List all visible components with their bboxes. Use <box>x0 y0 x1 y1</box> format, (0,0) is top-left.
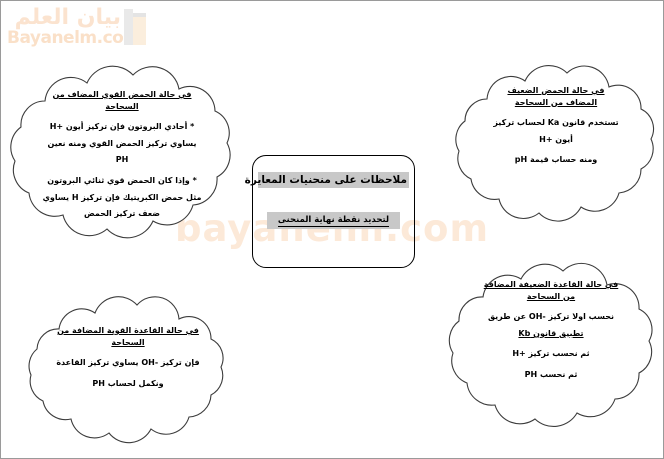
heading-line-2: المضاف من السحاحة <box>515 98 597 107</box>
cloud-weak-base-line-4: ثم نحسب PH <box>469 369 633 381</box>
heading-line-1: في حالة الحمض الضعيف <box>507 86 604 95</box>
heading-line-2: من السحاحة <box>527 292 575 301</box>
cloud-strong-base-heading: في حالة القاعدة القوية المضافة من السحاح… <box>47 325 209 348</box>
cloud-weak-acid-line-1: تستخدم قانون Ka لحساب تركيز <box>477 117 635 129</box>
watermark-logo-latin: Bayanelm.com <box>7 28 141 48</box>
cloud-strong-base-line-1: فإن تركيز -OH يساوي تركيز القاعدة <box>47 357 209 369</box>
cloud-strong-acid-line-4: * وإذا كان الحمض قوي ثنائي البروتون <box>41 175 203 187</box>
cloud-strong-base: في حالة القاعدة القوية المضافة من السحاح… <box>21 293 235 445</box>
cloud-strong-acid-line-5: مثل حمض الكبريتيك فإن تركيز H يساوي <box>41 192 203 204</box>
cloud-weak-base-text: في حالة القاعدة الضعيفة المضافة من السحا… <box>469 279 633 386</box>
cloud-weak-acid: في حالة الحمض الضعيف المضاف من السحاحة ت… <box>449 59 663 227</box>
cloud-weak-acid-heading: في حالة الحمض الضعيف المضاف من السحاحة <box>477 85 635 108</box>
watermark-logo-arabic: بيان العلم <box>15 5 121 30</box>
cloud-strong-acid-heading: في حالة الحمض القوي المضاف من السحاحة <box>41 89 203 112</box>
diagram-page: بيان العلم Bayanelm.com bayanelm.com ملا… <box>0 0 664 459</box>
cloud-weak-base-line-1: نحسب اولا تركيز -OH عن طريق <box>469 311 633 323</box>
center-title-box: ملاحظات على منحنيات المعايرة لتحديد نقطة… <box>252 155 415 268</box>
cloud-strong-acid-line-6: ضعف تركيز الحمض <box>41 208 203 220</box>
cloud-weak-acid-text: في حالة الحمض الضعيف المضاف من السحاحة ت… <box>477 85 635 171</box>
heading-line-1: في حالة الحمض القوي المضاف من <box>53 90 192 99</box>
center-box-title: ملاحظات على منحنيات المعايرة <box>258 172 409 188</box>
cloud-weak-base: في حالة القاعدة الضعيفة المضافة من السحا… <box>443 255 659 433</box>
heading-line-2: السحاحة <box>111 338 144 347</box>
cloud-strong-acid-line-3: PH <box>41 154 203 166</box>
book-icon <box>123 7 147 47</box>
heading-line-1: في حالة القاعدة الضعيفة المضافة <box>484 280 619 289</box>
heading-line-2: السحاحة <box>105 102 138 111</box>
cloud-weak-base-heading: في حالة القاعدة الضعيفة المضافة من السحا… <box>469 279 633 302</box>
watermark-logo: بيان العلم Bayanelm.com <box>7 5 147 53</box>
cloud-strong-base-line-2: ونكمل لحساب PH <box>47 378 209 390</box>
cloud-strong-acid: في حالة الحمض القوي المضاف من السحاحة * … <box>3 59 241 244</box>
cloud-strong-acid-text: في حالة الحمض القوي المضاف من السحاحة * … <box>41 89 203 225</box>
cloud-weak-base-line-3: ثم نحسب تركيز +H <box>469 348 633 360</box>
center-box-subtitle: لتحديد نقطة نهاية المنحنى <box>267 212 400 229</box>
cloud-strong-base-text: في حالة القاعدة القوية المضافة من السحاح… <box>47 325 209 394</box>
cloud-weak-acid-line-2: أيون +H <box>477 134 635 146</box>
heading-line-1: في حالة القاعدة القوية المضافة من <box>57 326 199 335</box>
cloud-weak-acid-line-3: ومنه حساب قيمة pH <box>477 154 635 166</box>
cloud-strong-acid-line-2: يساوي تركيز الحمض القوي ومنه نعين <box>41 138 203 150</box>
cloud-strong-acid-line-1: * أحادي البروتون فإن تركيز أيون +H <box>41 121 203 133</box>
cloud-weak-base-line-2: تطبيق قانون Kb <box>469 328 633 340</box>
